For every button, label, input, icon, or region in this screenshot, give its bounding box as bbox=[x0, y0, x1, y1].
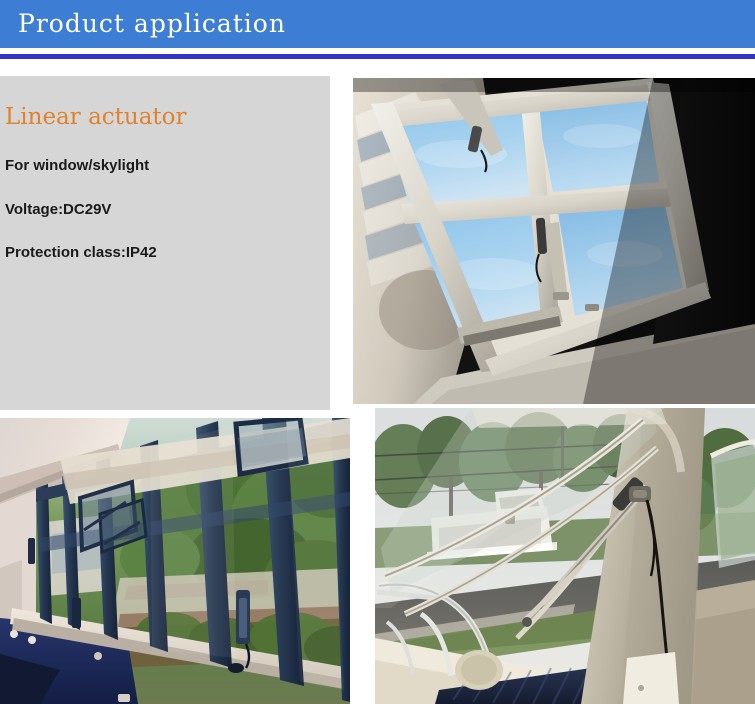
spec-line-application: For window/skylight bbox=[5, 157, 149, 174]
spec-panel: Linear actuator For window/skylight Volt… bbox=[0, 76, 330, 410]
skylight-photo-graphic bbox=[353, 78, 755, 404]
boat-photo-graphic bbox=[375, 408, 755, 704]
skylight-window-photo bbox=[353, 78, 755, 404]
corridor-windows-photo bbox=[0, 418, 350, 704]
page-header-bar: Product application bbox=[0, 0, 755, 48]
spec-line-protection-class: Protection class:IP42 bbox=[5, 244, 157, 261]
spec-line-voltage: Voltage:DC29V bbox=[5, 201, 111, 218]
product-name-heading: Linear actuator bbox=[5, 103, 187, 131]
page-title: Product application bbox=[18, 7, 286, 41]
corridor-photo-graphic bbox=[0, 418, 350, 704]
header-accent-rule bbox=[0, 54, 755, 59]
boat-windshield-photo bbox=[375, 408, 755, 704]
